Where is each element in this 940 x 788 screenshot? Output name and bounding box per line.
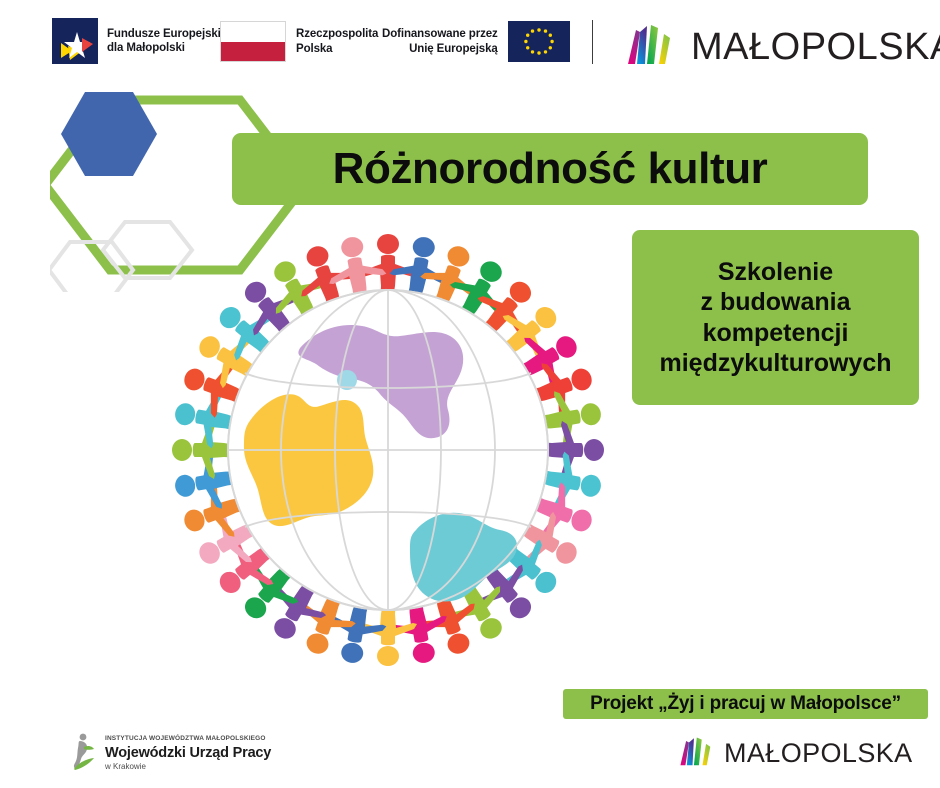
person-head — [411, 235, 436, 259]
logo-malopolska-top: MAŁOPOLSKA — [626, 22, 940, 71]
subtitle-line-2: z budowania — [701, 287, 851, 318]
top-logo-bar: Fundusze Europejskie dla Małopolski Rzec… — [0, 0, 940, 88]
title-banner: Różnorodność kultur — [232, 133, 868, 205]
logo-unia-europejska: Dofinansowane przez Unię Europejską — [382, 21, 570, 62]
malopolska-wordmark: MAŁOPOLSKA — [691, 28, 940, 66]
logo-fundusze-europejskie: Fundusze Europejskie dla Małopolski — [52, 18, 227, 64]
subtitle-box: Szkolenie z budowania kompetencji między… — [632, 230, 919, 405]
person-head — [340, 235, 365, 259]
wup-line-3: w Krakowie — [105, 763, 271, 771]
malopolska-mark-icon — [626, 22, 678, 71]
person-head — [411, 641, 436, 665]
logo-wojewodzki-urzad-pracy: INSTYTUCJA WOJEWÓDZTWA MAŁOPOLSKIEGO Woj… — [70, 731, 271, 776]
logo-pl-line2: Polska — [296, 42, 378, 56]
project-banner-text: Projekt „Żyj i pracuj w Małopolsce” — [590, 693, 901, 715]
person-head — [584, 439, 604, 461]
poland-flag-icon — [220, 21, 286, 62]
project-banner: Projekt „Żyj i pracuj w Małopolsce” — [563, 689, 928, 719]
logo-eu-line1: Dofinansowane przez — [382, 27, 498, 41]
globe-layer — [228, 290, 548, 610]
wup-line-2: Wojewódzki Urząd Pracy — [105, 746, 271, 761]
person-head — [377, 234, 399, 254]
logo-fe-line1: Fundusze Europejskie — [107, 27, 227, 41]
wup-line-1: INSTYTUCJA WOJEWÓDZTWA MAŁOPOLSKIEGO — [105, 736, 271, 743]
person-head — [579, 402, 603, 427]
logo-eu-caption: Dofinansowane przez Unię Europejską — [382, 27, 498, 56]
person-head — [340, 641, 365, 665]
page-title: Różnorodność kultur — [333, 147, 768, 191]
subtitle-line-1: Szkolenie — [718, 257, 833, 288]
wup-runner-icon — [70, 731, 98, 776]
person-head — [377, 646, 399, 666]
wup-text-block: INSTYTUCJA WOJEWÓDZTWA MAŁOPOLSKIEGO Woj… — [105, 736, 271, 771]
eu-flag-icon — [508, 21, 570, 62]
logo-pl-line1: Rzeczpospolita — [296, 27, 378, 41]
malopolska-mark-icon — [679, 735, 716, 772]
subtitle-line-4: międzykulturowych — [660, 348, 892, 379]
logo-malopolska-bottom: MAŁOPOLSKA — [679, 735, 913, 772]
logo-pl-caption: Rzeczpospolita Polska — [296, 27, 378, 56]
eu-funds-stars-icon — [52, 18, 98, 64]
person-head — [172, 439, 192, 461]
blue-hexagon-solid — [61, 92, 157, 176]
globe-people-illustration — [148, 218, 628, 683]
logo-rzeczpospolita-polska: Rzeczpospolita Polska — [220, 21, 378, 62]
poster-root: Fundusze Europejskie dla Małopolski Rzec… — [0, 0, 940, 788]
person-head — [173, 473, 197, 498]
logo-eu-line2: Unię Europejską — [382, 42, 498, 56]
logo-fe-line2: dla Małopolski — [107, 41, 227, 55]
subtitle-line-3: kompetencji — [703, 318, 849, 349]
person-head — [173, 402, 197, 427]
malopolska-wordmark: MAŁOPOLSKA — [724, 740, 913, 767]
logo-divider — [592, 20, 593, 64]
person-head — [579, 473, 603, 498]
logo-fe-caption: Fundusze Europejskie dla Małopolski — [107, 27, 227, 56]
